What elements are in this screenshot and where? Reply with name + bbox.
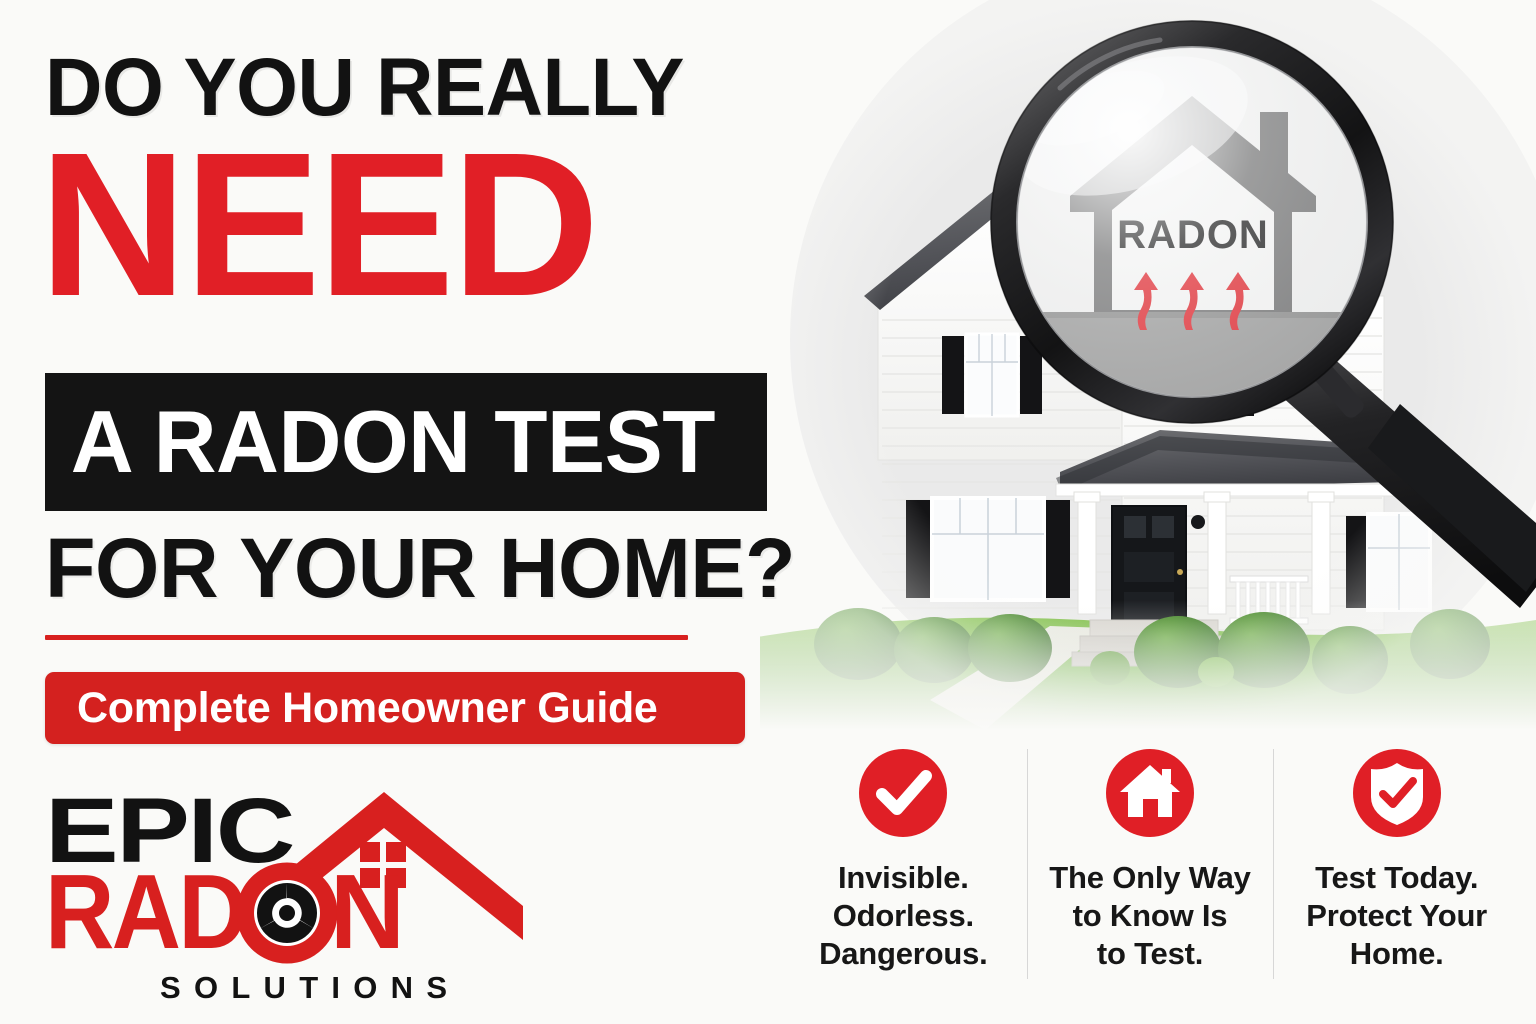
- svg-text:N: N: [330, 853, 402, 971]
- check-circle-icon: [855, 745, 951, 841]
- headline-line-2-need: NEED: [39, 135, 597, 315]
- feature-label: Test Today. Protect Your Home.: [1306, 859, 1487, 972]
- logo-artwork: EPIC RAD N: [45, 780, 525, 1015]
- logo-word-solutions: SOLUTIONS: [160, 970, 458, 1005]
- headline-column: DO YOU REALLY NEED A RADON TEST FOR YOUR…: [45, 40, 775, 1000]
- feature-label: The Only Way to Know Is to Test.: [1049, 859, 1250, 972]
- red-divider-rule: [45, 635, 688, 640]
- home-circle-icon: [1102, 745, 1198, 841]
- subtitle-badge-label: Complete Homeowner Guide: [45, 684, 658, 733]
- hero-column: RADON: [760, 0, 1536, 1024]
- house-photo-stage: RADON: [760, 0, 1536, 730]
- feature-item-test-today[interactable]: Test Today. Protect Your Home.: [1273, 745, 1520, 990]
- logo-word-radon: RAD N: [45, 853, 402, 971]
- subtitle-badge[interactable]: Complete Homeowner Guide: [45, 672, 745, 744]
- feature-row: Invisible. Odorless. Dangerous. The Only…: [780, 745, 1520, 990]
- feature-label: Invisible. Odorless. Dangerous.: [819, 859, 988, 972]
- epic-radon-solutions-logo[interactable]: EPIC RAD N: [45, 780, 525, 1015]
- house-photo-illustration: RADON: [760, 0, 1536, 730]
- shield-check-icon: [1349, 745, 1445, 841]
- feature-item-only-way-to-know[interactable]: The Only Way to Know Is to Test.: [1027, 745, 1274, 990]
- headline-black-bar: A RADON TEST: [45, 373, 767, 511]
- feature-item-invisible[interactable]: Invisible. Odorless. Dangerous.: [780, 745, 1027, 990]
- headline-line-3: A RADON TEST: [45, 402, 715, 483]
- headline-line-4: FOR YOUR HOME?: [45, 530, 795, 607]
- radon-guide-poster: RADON: [0, 0, 1536, 1024]
- svg-text:RAD: RAD: [45, 853, 245, 971]
